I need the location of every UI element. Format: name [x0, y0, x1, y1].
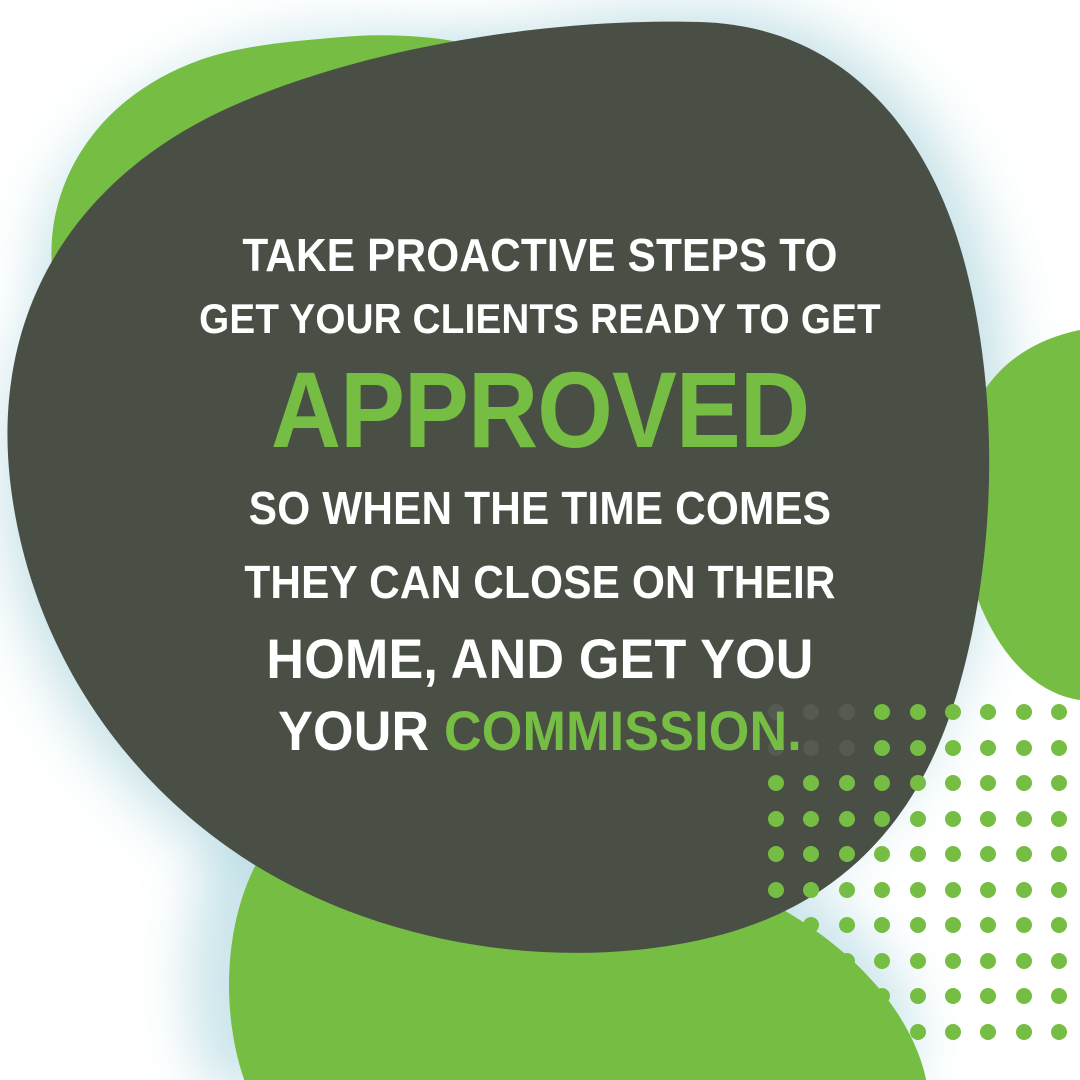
- dot-grid-dot: [839, 917, 855, 933]
- dot-grid-dot: [839, 811, 855, 827]
- dot-grid-dot: [1016, 988, 1032, 1004]
- dot-grid-dot: [1051, 775, 1067, 791]
- dot-grid-dot: [1051, 953, 1067, 969]
- dot-grid-dot: [839, 846, 855, 862]
- dot-grid-dot: [980, 740, 996, 756]
- dot-grid-dot: [839, 882, 855, 898]
- dot-grid-dot: [1051, 704, 1067, 720]
- dot-grid-dot: [839, 740, 855, 756]
- dot-grid-dot: [803, 988, 819, 1004]
- dot-grid-dot: [839, 775, 855, 791]
- dot-grid-dot: [874, 775, 890, 791]
- dot-grid-dot: [874, 740, 890, 756]
- dot-grid-dot: [910, 740, 926, 756]
- dot-grid-dot: [1051, 740, 1067, 756]
- dot-grid-dot: [945, 811, 961, 827]
- dot-grid-dot: [1016, 775, 1032, 791]
- dot-grid-dot: [768, 988, 784, 1004]
- dot-grid-dot: [945, 846, 961, 862]
- dot-grid-dot: [803, 1024, 819, 1040]
- dot-grid-dot: [768, 740, 784, 756]
- dot-grid-dot: [910, 846, 926, 862]
- dot-grid-dot: [768, 775, 784, 791]
- dot-grid-dot: [1016, 740, 1032, 756]
- dot-grid-dot: [945, 704, 961, 720]
- dot-grid-dot: [945, 953, 961, 969]
- dot-grid-dot: [874, 1024, 890, 1040]
- dot-grid-dot: [874, 811, 890, 827]
- dot-grid-dot: [803, 917, 819, 933]
- dot-grid-dot: [1016, 953, 1032, 969]
- dot-grid-dot: [910, 811, 926, 827]
- dot-grid-dot: [768, 846, 784, 862]
- dot-grid-dot: [945, 988, 961, 1004]
- dot-grid-dot: [910, 988, 926, 1004]
- dot-grid-dot: [874, 704, 890, 720]
- dot-grid-dot: [768, 917, 784, 933]
- dot-grid-dot: [1051, 882, 1067, 898]
- dot-grid-dot: [839, 1024, 855, 1040]
- dot-grid-dot: [803, 953, 819, 969]
- dot-grid-dot: [980, 704, 996, 720]
- dot-grid-dot: [803, 882, 819, 898]
- dot-grid-dot: [980, 917, 996, 933]
- dot-grid-dot: [945, 740, 961, 756]
- dot-grid-dot: [874, 882, 890, 898]
- dot-grid-dot: [803, 740, 819, 756]
- dot-grid-dot: [1051, 811, 1067, 827]
- dot-grid-dot: [768, 953, 784, 969]
- dot-grid-dot: [910, 775, 926, 791]
- dot-grid-dot: [839, 988, 855, 1004]
- dot-grid-dot: [768, 882, 784, 898]
- dot-grid-dot: [910, 704, 926, 720]
- poster-canvas: TAKE PROACTIVE STEPS TO GET YOUR CLIENTS…: [0, 0, 1080, 1080]
- dot-grid-dot: [1051, 1024, 1067, 1040]
- dot-grid-dot: [768, 811, 784, 827]
- dot-grid-dot: [1051, 988, 1067, 1004]
- dot-grid-dot: [980, 1024, 996, 1040]
- dot-grid-dot: [839, 704, 855, 720]
- dot-grid-dot: [1016, 846, 1032, 862]
- dot-grid-dot: [874, 846, 890, 862]
- dot-grid-dot: [839, 953, 855, 969]
- dot-grid-dot: [803, 775, 819, 791]
- dot-grid-dot: [1016, 882, 1032, 898]
- dot-grid-dot: [1016, 811, 1032, 827]
- dot-grid-dot: [945, 1024, 961, 1040]
- dot-grid-dot: [803, 811, 819, 827]
- dot-grid-dot: [945, 917, 961, 933]
- dot-grid-dot: [874, 988, 890, 1004]
- dot-grid-pattern: [768, 704, 1056, 1048]
- dot-grid-dot: [910, 882, 926, 898]
- dot-grid-dot: [910, 953, 926, 969]
- dot-grid-dot: [980, 882, 996, 898]
- dot-grid-dot: [1016, 917, 1032, 933]
- dot-grid-dot: [980, 953, 996, 969]
- dot-grid-dot: [910, 917, 926, 933]
- dot-grid-dot: [980, 988, 996, 1004]
- dot-grid-dot: [945, 775, 961, 791]
- dot-grid-dot: [874, 917, 890, 933]
- dot-grid-dot: [1051, 846, 1067, 862]
- dot-grid-dot: [803, 846, 819, 862]
- dot-grid-dot: [1016, 1024, 1032, 1040]
- dot-grid-dot: [768, 704, 784, 720]
- dot-grid-dot: [980, 846, 996, 862]
- dot-grid-dot: [910, 1024, 926, 1040]
- dot-grid-dot: [945, 882, 961, 898]
- dot-grid-dot: [803, 704, 819, 720]
- dot-grid-dot: [980, 811, 996, 827]
- dot-grid-dot: [980, 775, 996, 791]
- dot-grid-dot: [768, 1024, 784, 1040]
- dot-grid-dot: [874, 953, 890, 969]
- dot-grid-dot: [1051, 917, 1067, 933]
- dot-grid-dot: [1016, 704, 1032, 720]
